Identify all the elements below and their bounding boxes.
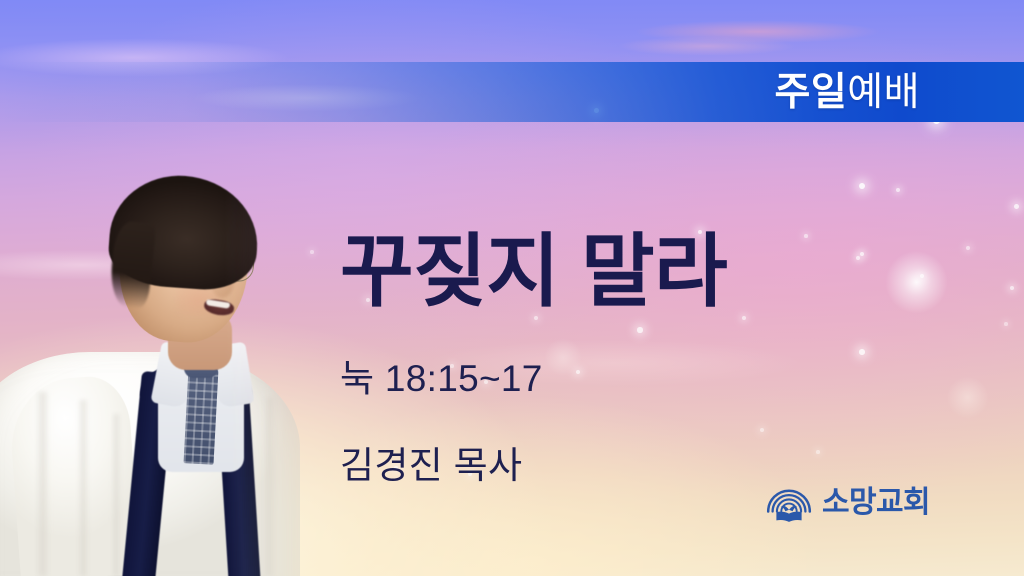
service-type-label: 주일예배 — [774, 73, 920, 112]
service-type-label-light: 예배 — [847, 71, 920, 114]
sermon-title-card: 주일예배 꾸짖지 말라 눅 18:15~17 김경진 목사 소망교회 — [0, 0, 1024, 576]
sparkle-dot — [1004, 322, 1008, 326]
preacher-name: 김경진 목사 — [340, 397, 900, 484]
robe-fold — [264, 398, 276, 576]
sparkle-dot — [859, 183, 865, 189]
dove-wings-shape — [781, 506, 797, 511]
robe-fold — [78, 400, 89, 576]
open-book-with-arcs-icon — [765, 482, 813, 524]
sparkle-dot — [896, 188, 900, 192]
robe-fold — [36, 392, 50, 576]
sparkle-dot — [920, 274, 924, 278]
sermon-title: 꾸짖지 말라 — [340, 232, 900, 312]
robe-fold — [112, 414, 121, 576]
sparkle-dot — [1014, 204, 1019, 209]
sermon-info-block: 꾸짖지 말라 눅 18:15~17 김경진 목사 — [340, 232, 900, 484]
sparkle-dot — [966, 246, 970, 250]
sparkle-dot — [1010, 286, 1014, 290]
service-type-banner: 주일예배 — [0, 62, 1024, 122]
church-logo: 소망교회 — [765, 482, 930, 524]
necktie — [184, 367, 219, 464]
service-type-label-strong: 주일 — [774, 71, 847, 114]
scripture-reference: 눅 18:15~17 — [340, 312, 900, 397]
church-name: 소망교회 — [822, 488, 930, 518]
open-book-shape — [776, 512, 801, 522]
